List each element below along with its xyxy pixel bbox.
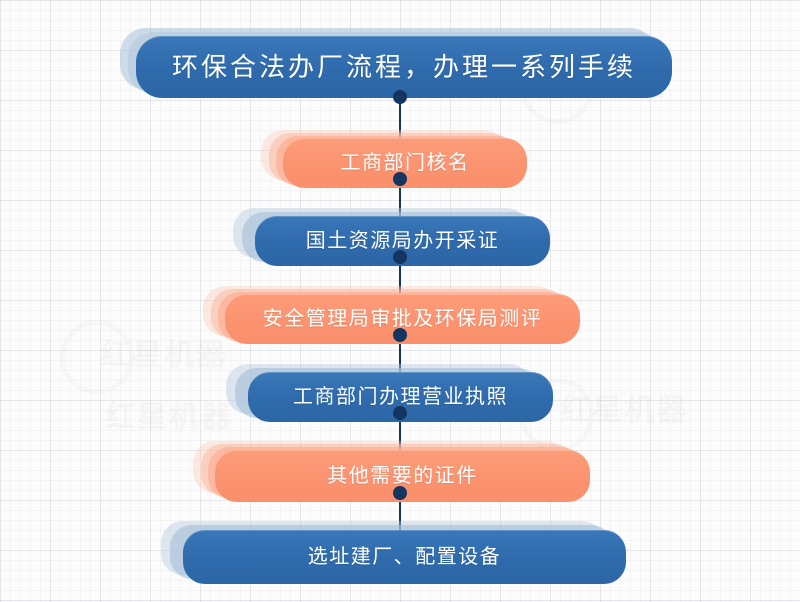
step-label: 工商部门办理营业执照 <box>293 387 508 407</box>
connector-dot <box>393 328 407 342</box>
watermark-text: 红星机器 <box>105 392 233 436</box>
connector-dot <box>393 250 407 264</box>
step-label: 其他需要的证件 <box>327 466 478 486</box>
watermark-text: 红星机器 <box>560 385 688 429</box>
watermark-text: 红星机器 <box>100 330 228 374</box>
watermark-ring <box>60 320 134 394</box>
step-label: 国土资源局办开采证 <box>306 231 500 251</box>
flowchart-title-box[interactable]: 环保合法办厂流程，办理一系列手续 <box>136 36 672 98</box>
connector-dot <box>393 172 407 186</box>
title-box-face: 环保合法办厂流程，办理一系列手续 <box>136 36 672 98</box>
flowchart-canvas: 红星机器 红星机器 红星机器 红星机器 环保合法办厂流程，办理一系列手续 工商部… <box>0 0 800 602</box>
connector-dot <box>393 486 407 500</box>
flowchart-step-6[interactable]: 选址建厂、配置设备 <box>183 530 626 584</box>
connector-dot <box>393 406 407 420</box>
step-label: 安全管理局审批及环保局测评 <box>263 309 543 329</box>
page-title: 环保合法办厂流程，办理一系列手续 <box>172 54 636 80</box>
step-box-face: 选址建厂、配置设备 <box>183 530 626 584</box>
connector-dot <box>393 90 407 104</box>
step-label: 工商部门核名 <box>341 153 470 173</box>
step-label: 选址建厂、配置设备 <box>308 547 502 567</box>
